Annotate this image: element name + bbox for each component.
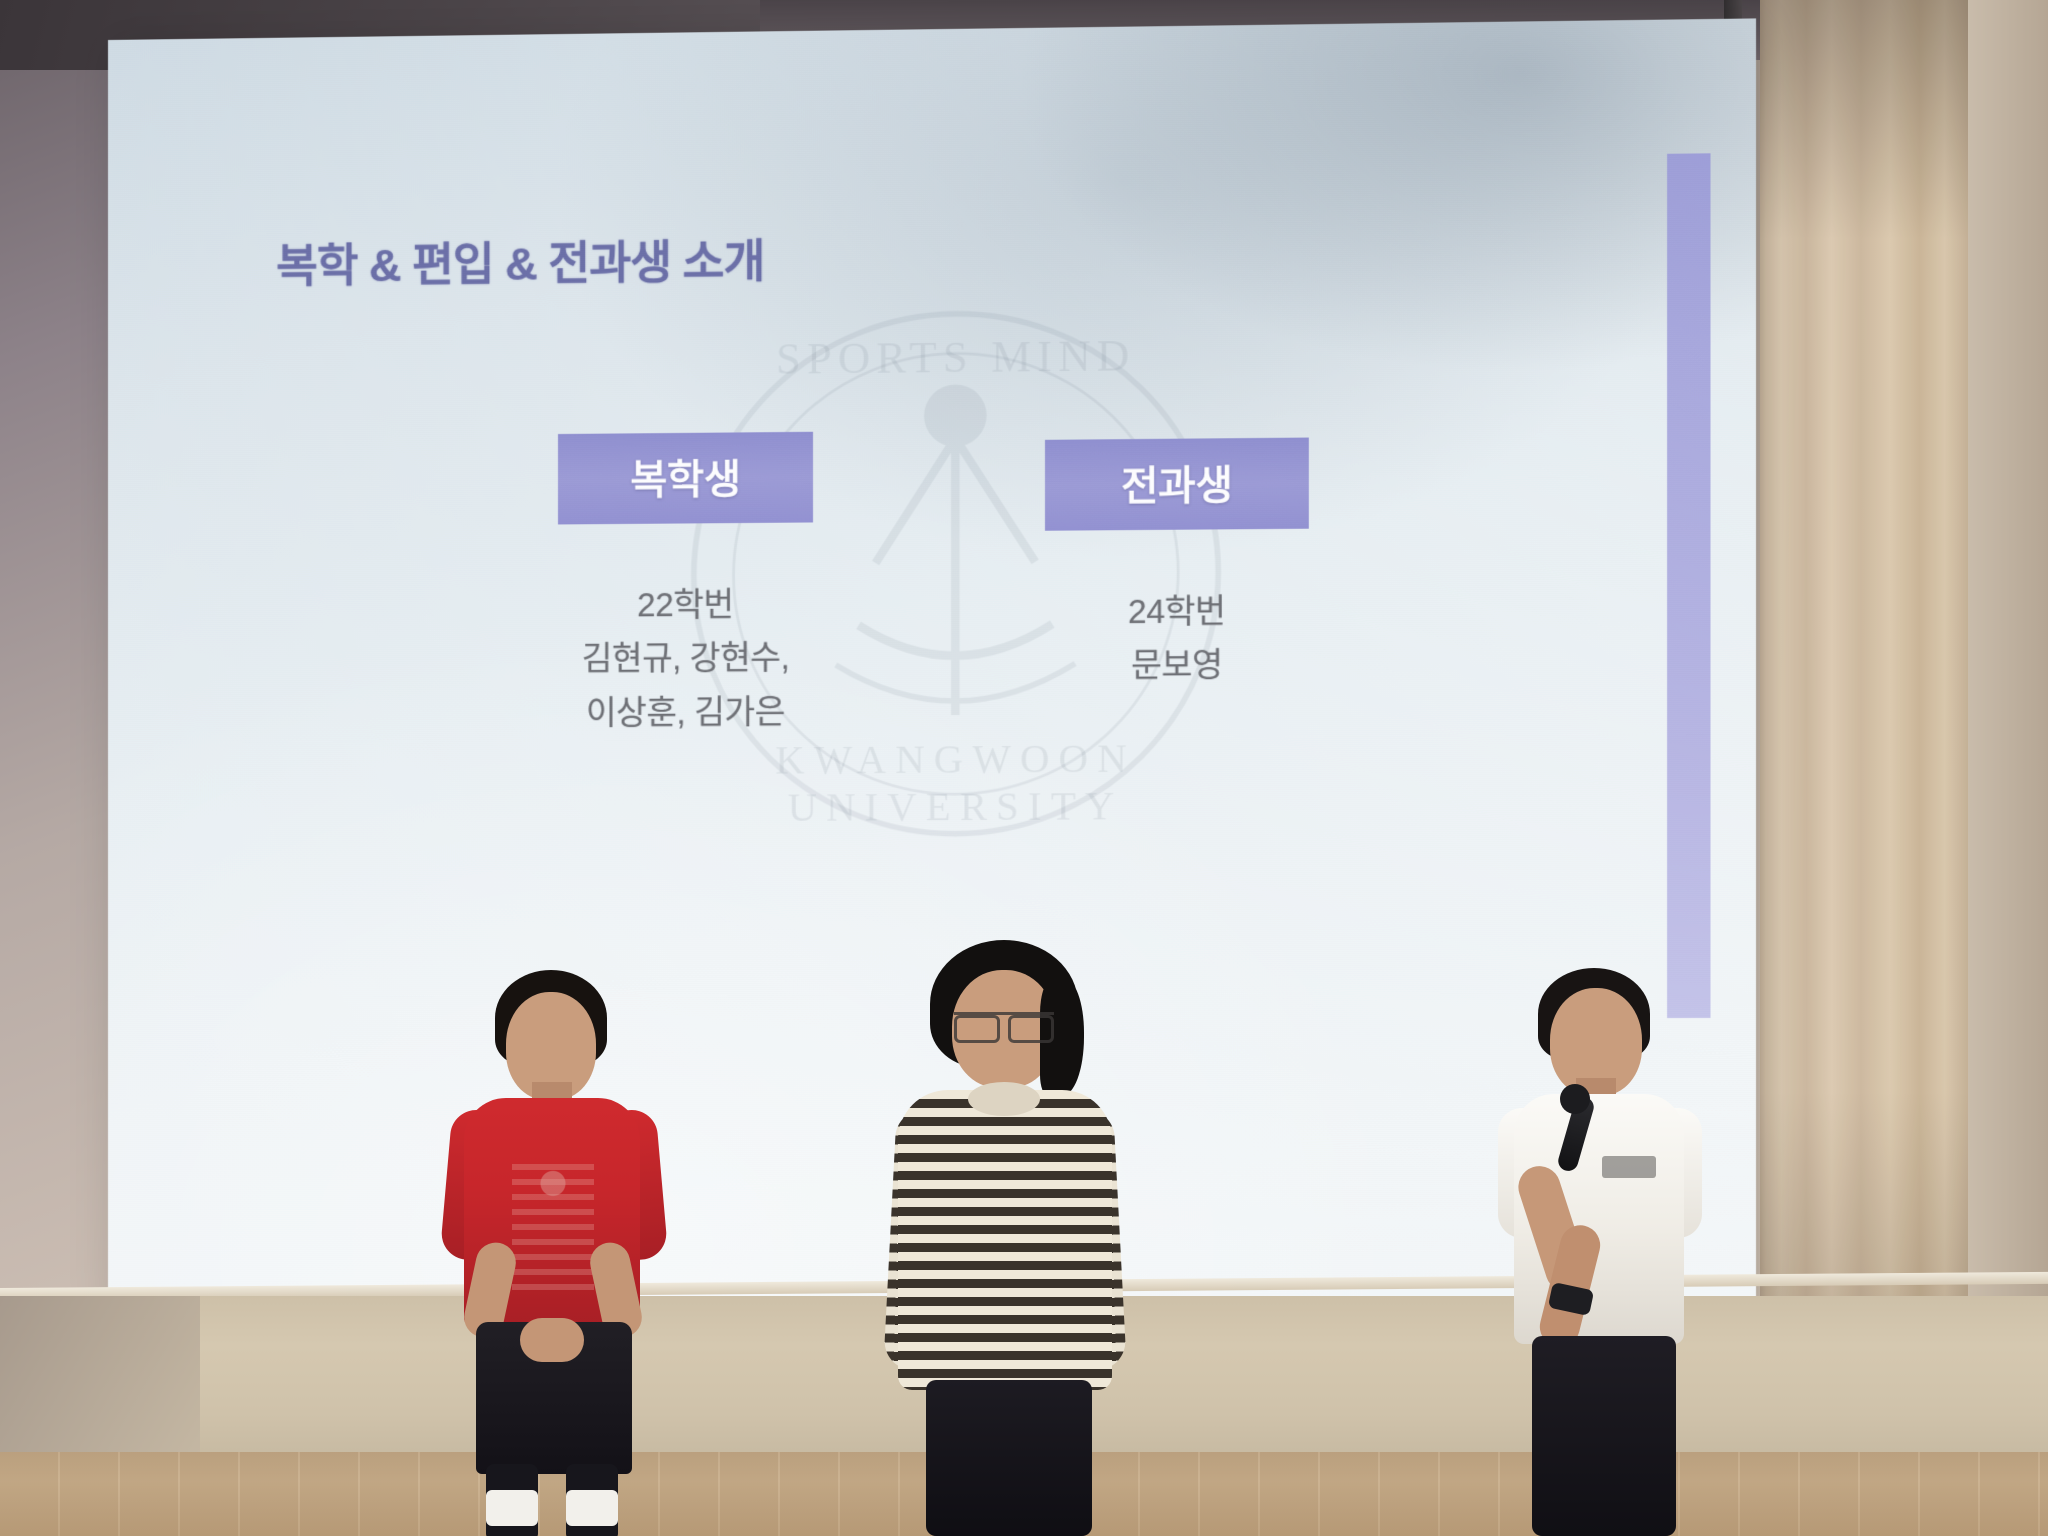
p2-glasses xyxy=(954,1012,1054,1034)
person-left-red-shirt xyxy=(440,970,670,1536)
person-right-white-shirt xyxy=(1498,968,1708,1536)
slide-title: 복학 & 편입 & 전과생 소개 xyxy=(276,225,764,296)
far-right-wall xyxy=(1968,0,2048,1330)
person-center-striped-sweater xyxy=(890,940,1130,1536)
column-body-transfer: 24학번 문보영 xyxy=(1045,583,1309,693)
p3-shirt-logo xyxy=(1602,1156,1656,1178)
returning-line-3: 이상훈, 김가은 xyxy=(558,685,813,740)
column-returning-students: 복학생 22학번 김현규, 강현수, 이상훈, 김가은 xyxy=(558,432,813,740)
wood-wall-panel xyxy=(1760,0,1970,1330)
column-transfer-students: 전과생 24학번 문보영 xyxy=(1045,438,1309,694)
p3-black-pants xyxy=(1532,1336,1676,1536)
p2-black-pants xyxy=(926,1380,1092,1536)
p2-striped-sweater xyxy=(898,1090,1112,1390)
p1-clasped-hands xyxy=(520,1318,584,1362)
column-header-transfer: 전과생 xyxy=(1045,438,1309,531)
auditorium-scene: SPORTS MIND KWANGWOON UNIVERSITY 복학 & 편입… xyxy=(0,0,2048,1536)
watermark-bottom-text: KWANGWOON UNIVERSITY xyxy=(631,733,1282,831)
microphone-head xyxy=(1560,1084,1590,1114)
p1-shirt-graphic xyxy=(512,1160,594,1290)
transfer-line-1: 24학번 xyxy=(1045,583,1309,639)
column-header-returning: 복학생 xyxy=(558,432,813,525)
returning-line-2: 김현규, 강현수, xyxy=(558,631,813,686)
transfer-line-2: 문보영 xyxy=(1045,638,1309,694)
p2-collar xyxy=(968,1082,1040,1116)
slide-accent-bar xyxy=(1667,153,1710,1018)
p1-right-sock xyxy=(566,1490,618,1526)
returning-line-1: 22학번 xyxy=(558,577,813,633)
column-body-returning: 22학번 김현규, 강현수, 이상훈, 김가은 xyxy=(558,577,813,740)
watermark-top-text: SPORTS MIND xyxy=(631,328,1282,386)
p1-left-sock xyxy=(486,1490,538,1526)
